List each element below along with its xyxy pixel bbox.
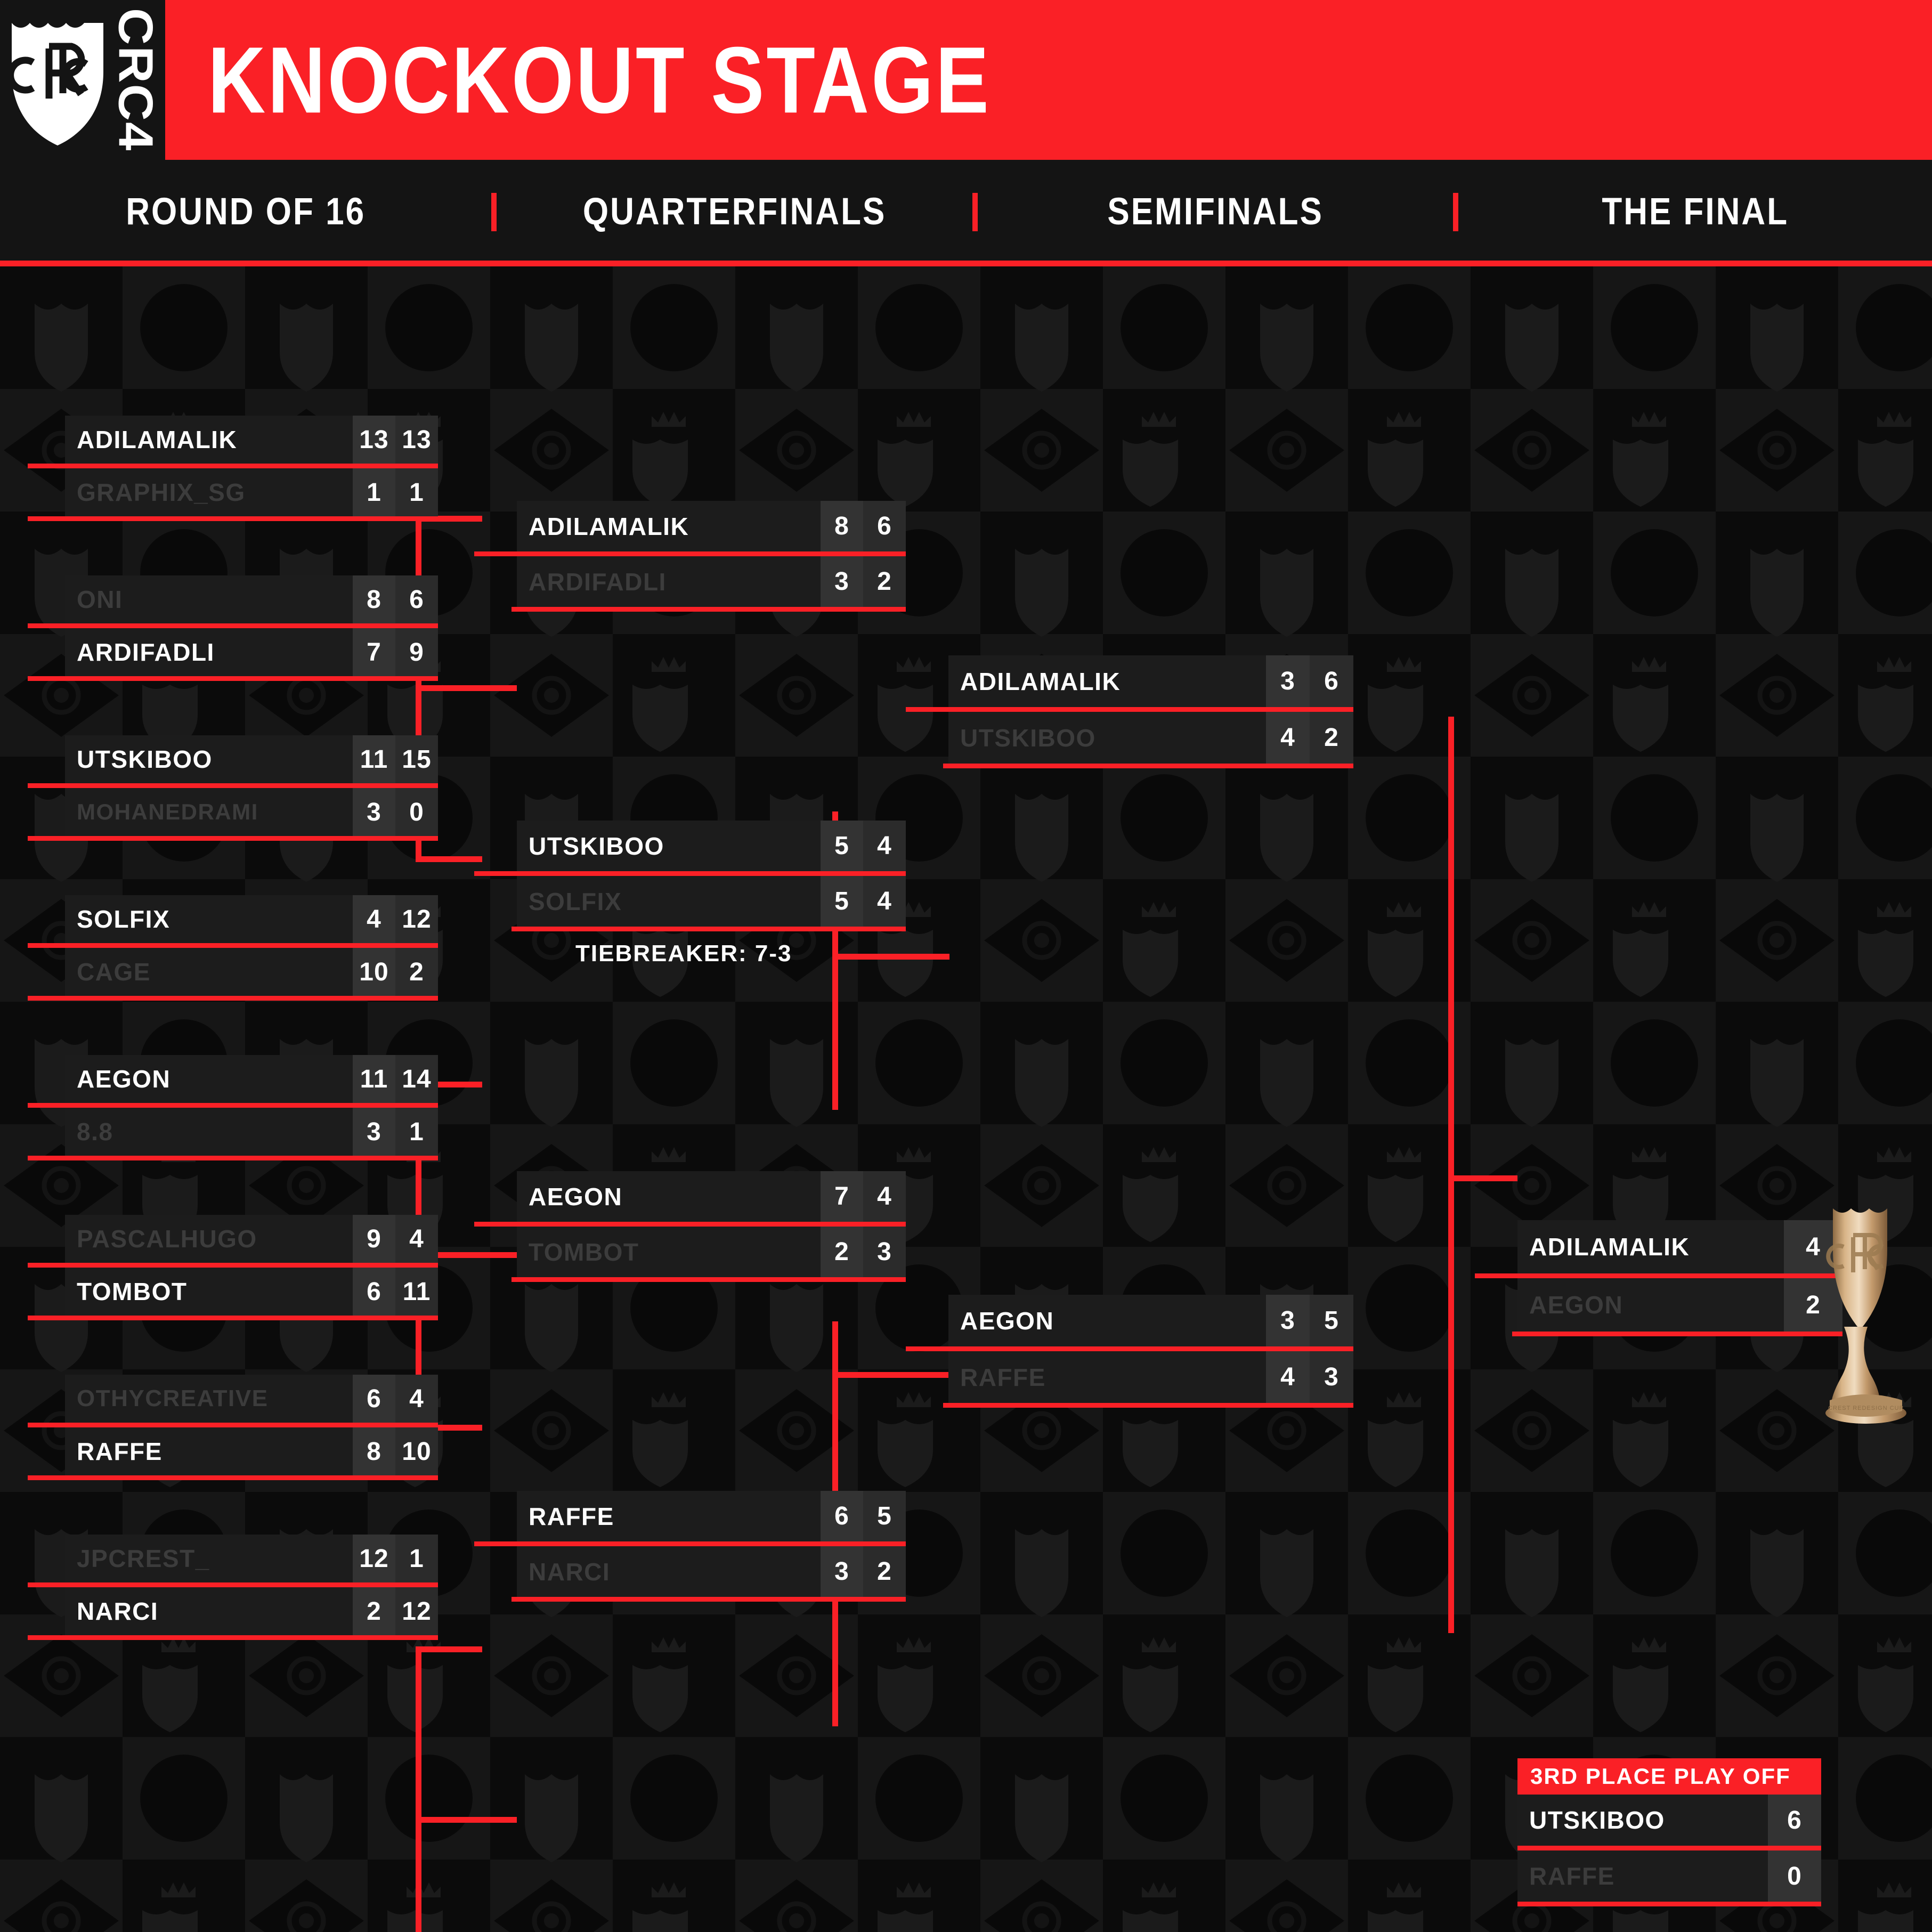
connector bbox=[416, 856, 482, 862]
row-divider bbox=[28, 1475, 438, 1480]
knockout-stage-bracket-page: CRC4 KNOCKOUT STAGE ROUND OF 16 QUARTERF… bbox=[0, 0, 1932, 1932]
score-leg1: 4 bbox=[353, 895, 395, 943]
team-name: AEGON bbox=[517, 1171, 821, 1222]
match-row[interactable]: JPCREST_ 12 1 bbox=[65, 1535, 438, 1582]
score-leg1: 3 bbox=[821, 556, 863, 607]
row-divider bbox=[28, 1156, 438, 1160]
score-leg1: 5 bbox=[821, 821, 863, 871]
team-name: AEGON bbox=[1517, 1278, 1784, 1332]
score-leg2: 12 bbox=[395, 1587, 438, 1635]
match-r16-7[interactable]: OTHYCREATIVE 6 4 RAFFE 8 10 bbox=[65, 1375, 438, 1475]
team-name: ADILAMALIK bbox=[65, 416, 353, 464]
score-third: 6 bbox=[1768, 1795, 1821, 1846]
team-name: JPCREST_ bbox=[65, 1535, 353, 1582]
team-name: UTSKIBOO bbox=[517, 821, 821, 871]
team-name: TOMBOT bbox=[517, 1227, 821, 1277]
team-name: RAFFE bbox=[65, 1427, 353, 1475]
score-leg2: 12 bbox=[395, 895, 438, 943]
score-leg1: 8 bbox=[353, 1427, 395, 1475]
match-row[interactable]: ADILAMALIK 3 6 bbox=[948, 655, 1353, 707]
row-divider bbox=[1475, 1273, 1842, 1278]
score-leg1: 11 bbox=[353, 1055, 395, 1103]
row-divider bbox=[474, 551, 906, 556]
match-row[interactable]: RAFFE 6 5 bbox=[517, 1491, 906, 1541]
score-leg2: 14 bbox=[395, 1055, 438, 1103]
score-leg2: 4 bbox=[395, 1375, 438, 1423]
row-divider bbox=[28, 1103, 438, 1108]
score-leg2: 4 bbox=[395, 1215, 438, 1263]
team-name: UTSKIBOO bbox=[65, 735, 353, 783]
team-name: NARCI bbox=[65, 1587, 353, 1635]
connector bbox=[1448, 717, 1454, 1633]
row-divider bbox=[474, 1222, 906, 1227]
score-leg2: 2 bbox=[863, 556, 906, 607]
score-leg1: 6 bbox=[353, 1268, 395, 1316]
score-leg2: 4 bbox=[863, 876, 906, 927]
row-divider bbox=[474, 871, 906, 876]
tab-separator bbox=[972, 193, 978, 231]
team-name: RAFFE bbox=[948, 1351, 1266, 1403]
score-leg1: 8 bbox=[353, 575, 395, 623]
tab-semifinals[interactable]: SEMIFINALS bbox=[978, 152, 1454, 271]
match-row[interactable]: GRAPHIX_SG 1 1 bbox=[65, 468, 438, 516]
match-final[interactable]: ADILAMALIK 4 AEGON 2 bbox=[1517, 1220, 1842, 1332]
connector bbox=[416, 685, 517, 691]
row-divider bbox=[1517, 1846, 1821, 1850]
connector bbox=[416, 1646, 421, 1932]
match-row[interactable]: ARDIFADLI 7 9 bbox=[65, 628, 438, 676]
row-divider bbox=[28, 1635, 438, 1640]
team-name: ARDIFADLI bbox=[517, 556, 821, 607]
team-name: CAGE bbox=[65, 948, 353, 996]
team-name: OTHYCREATIVE bbox=[65, 1375, 353, 1423]
match-row[interactable]: AEGON 3 5 bbox=[948, 1295, 1353, 1346]
match-row[interactable]: TOMBOT 2 3 bbox=[517, 1227, 906, 1277]
team-name: GRAPHIX_SG bbox=[65, 468, 353, 516]
score-leg2: 5 bbox=[863, 1491, 906, 1541]
match-row[interactable]: UTSKIBOO 4 2 bbox=[948, 712, 1353, 764]
connector bbox=[416, 1646, 482, 1652]
match-r16-5[interactable]: AEGON 11 14 8.8 3 1 bbox=[65, 1055, 438, 1156]
match-sf-1[interactable]: ADILAMALIK 3 6 UTSKIBOO 4 2 bbox=[948, 655, 1353, 764]
match-row[interactable]: 8.8 3 1 bbox=[65, 1108, 438, 1156]
match-r16-3[interactable]: UTSKIBOO 11 15 MOHANEDRAMI 3 0 bbox=[65, 735, 438, 836]
page-header: CRC4 KNOCKOUT STAGE bbox=[0, 0, 1932, 160]
team-name: ADILAMALIK bbox=[948, 655, 1266, 707]
score-leg2: 6 bbox=[1310, 655, 1353, 707]
score-leg2: 0 bbox=[395, 788, 438, 836]
score-leg2: 3 bbox=[1310, 1351, 1353, 1403]
team-name: ARDIFADLI bbox=[65, 628, 353, 676]
score-leg1: 12 bbox=[353, 1535, 395, 1582]
crc-shield-crest-icon bbox=[10, 13, 105, 147]
score-leg2: 4 bbox=[863, 821, 906, 871]
score-leg2: 3 bbox=[863, 1227, 906, 1277]
row-divider bbox=[28, 1316, 438, 1320]
match-qf-4[interactable]: RAFFE 6 5 NARCI 3 2 bbox=[517, 1491, 906, 1597]
match-row[interactable]: RAFFE 0 bbox=[1517, 1850, 1821, 1902]
match-qf-1[interactable]: ADILAMALIK 8 6 ARDIFADLI 3 2 bbox=[517, 501, 906, 607]
row-divider bbox=[512, 607, 906, 612]
row-divider bbox=[906, 1346, 1353, 1351]
third-place-header: 3RD PLACE PLAY OFF bbox=[1517, 1758, 1821, 1795]
match-row[interactable]: UTSKIBOO 6 bbox=[1517, 1795, 1821, 1846]
tab-round-of-16[interactable]: ROUND OF 16 bbox=[0, 152, 491, 271]
row-divider bbox=[28, 516, 438, 521]
team-name: ADILAMALIK bbox=[1517, 1220, 1784, 1273]
score-leg1: 3 bbox=[821, 1546, 863, 1597]
score-leg2: 2 bbox=[1310, 712, 1353, 764]
match-row[interactable]: TOMBOT 6 11 bbox=[65, 1268, 438, 1316]
score-leg2: 2 bbox=[395, 948, 438, 996]
row-divider bbox=[28, 676, 438, 681]
row-divider bbox=[28, 996, 438, 1001]
round-tabs: ROUND OF 16 QUARTERFINALS SEMIFINALS THE… bbox=[0, 160, 1932, 264]
match-row[interactable]: UTSKIBOO 5 4 bbox=[517, 821, 906, 871]
score-leg1: 4 bbox=[1266, 1351, 1310, 1403]
match-qf-2[interactable]: UTSKIBOO 5 4 SOLFIX 5 4 bbox=[517, 821, 906, 927]
team-name: MOHANEDRAMI bbox=[65, 788, 353, 836]
row-divider bbox=[28, 464, 438, 468]
team-name: NARCI bbox=[517, 1546, 821, 1597]
match-row[interactable]: NARCI 3 2 bbox=[517, 1546, 906, 1597]
match-row[interactable]: NARCI 2 12 bbox=[65, 1587, 438, 1635]
match-r16-1[interactable]: ADILAMALIK 13 13 GRAPHIX_SG 1 1 bbox=[65, 416, 438, 516]
team-name: SOLFIX bbox=[517, 876, 821, 927]
score-leg1: 6 bbox=[821, 1491, 863, 1541]
match-row[interactable]: ADILAMALIK 8 6 bbox=[517, 501, 906, 551]
match-row[interactable]: UTSKIBOO 11 15 bbox=[65, 735, 438, 783]
connector bbox=[1448, 1175, 1517, 1181]
row-divider bbox=[28, 1263, 438, 1268]
score-leg2: 2 bbox=[863, 1546, 906, 1597]
bracket-canvas: ADILAMALIK 13 13 GRAPHIX_SG 1 1 ONI 8 6 … bbox=[0, 266, 1932, 1932]
brand-logo: CRC4 bbox=[0, 0, 165, 160]
row-divider bbox=[474, 1541, 906, 1546]
team-name: ONI bbox=[65, 575, 353, 623]
row-divider bbox=[906, 707, 1353, 712]
score-leg2: 15 bbox=[395, 735, 438, 783]
score-leg1: 4 bbox=[1266, 712, 1310, 764]
score-leg1: 3 bbox=[1266, 655, 1310, 707]
row-divider bbox=[512, 927, 906, 931]
match-third-place[interactable]: UTSKIBOO 6 RAFFE 0 bbox=[1517, 1795, 1821, 1902]
row-divider bbox=[1512, 1332, 1842, 1336]
score-leg1: 2 bbox=[353, 1587, 395, 1635]
tabs-underline bbox=[0, 261, 1932, 266]
match-row[interactable]: MOHANEDRAMI 3 0 bbox=[65, 788, 438, 836]
tab-separator bbox=[491, 193, 497, 231]
score-leg2: 6 bbox=[395, 575, 438, 623]
team-name: RAFFE bbox=[517, 1491, 821, 1541]
match-r16-8[interactable]: JPCREST_ 12 1 NARCI 2 12 bbox=[65, 1535, 438, 1635]
match-qf-3[interactable]: AEGON 7 4 TOMBOT 2 3 bbox=[517, 1171, 906, 1277]
match-row[interactable]: OTHYCREATIVE 6 4 bbox=[65, 1375, 438, 1423]
score-leg1: 10 bbox=[353, 948, 395, 996]
score-leg1: 2 bbox=[821, 1227, 863, 1277]
score-leg1: 1 bbox=[353, 468, 395, 516]
score-leg1: 8 bbox=[821, 501, 863, 551]
score-leg1: 6 bbox=[353, 1375, 395, 1423]
score-leg1: 9 bbox=[353, 1215, 395, 1263]
trophy-base-text: CREST REDESIGN CUP bbox=[1828, 1405, 1904, 1411]
connector bbox=[416, 1817, 517, 1823]
tab-the-final[interactable]: THE FINAL bbox=[1458, 152, 1932, 271]
score-leg2: 6 bbox=[863, 501, 906, 551]
score-leg1: 3 bbox=[353, 788, 395, 836]
row-divider bbox=[28, 836, 438, 841]
score-leg1: 13 bbox=[353, 416, 395, 464]
row-divider bbox=[512, 1597, 906, 1602]
row-divider bbox=[943, 764, 1353, 768]
title-banner: KNOCKOUT STAGE bbox=[165, 0, 1932, 160]
match-r16-6[interactable]: PASCALHUGO 9 4 TOMBOT 6 11 bbox=[65, 1215, 438, 1316]
score-leg1: 3 bbox=[1266, 1295, 1310, 1346]
team-name: 8.8 bbox=[65, 1108, 353, 1156]
row-divider bbox=[28, 943, 438, 948]
match-row[interactable]: SOLFIX 4 12 bbox=[65, 895, 438, 943]
row-divider bbox=[943, 1403, 1353, 1408]
tab-separator bbox=[1453, 193, 1458, 231]
match-row[interactable]: AEGON 7 4 bbox=[517, 1171, 906, 1222]
match-row[interactable]: CAGE 10 2 bbox=[65, 948, 438, 996]
row-divider bbox=[28, 783, 438, 788]
row-divider bbox=[28, 1423, 438, 1427]
connector bbox=[832, 1372, 949, 1378]
row-divider bbox=[1517, 1902, 1821, 1906]
team-name: TOMBOT bbox=[65, 1268, 353, 1316]
crc-trophy-icon: CREST REDESIGN CUP bbox=[1802, 1204, 1930, 1428]
row-divider bbox=[512, 1277, 906, 1282]
match-row[interactable]: SOLFIX 5 4 bbox=[517, 876, 906, 927]
row-divider bbox=[28, 623, 438, 628]
match-row[interactable]: AEGON 2 bbox=[1517, 1278, 1842, 1332]
match-row[interactable]: ARDIFADLI 3 2 bbox=[517, 556, 906, 607]
match-r16-4[interactable]: SOLFIX 4 12 CAGE 10 2 bbox=[65, 895, 438, 996]
team-name: UTSKIBOO bbox=[1517, 1795, 1768, 1846]
score-leg1: 5 bbox=[821, 876, 863, 927]
match-sf-2[interactable]: AEGON 3 5 RAFFE 4 3 bbox=[948, 1295, 1353, 1403]
score-third: 0 bbox=[1768, 1850, 1821, 1902]
score-leg2: 1 bbox=[395, 1108, 438, 1156]
row-divider bbox=[28, 1582, 438, 1587]
score-leg2: 5 bbox=[1310, 1295, 1353, 1346]
connector bbox=[832, 954, 949, 960]
score-leg2: 13 bbox=[395, 416, 438, 464]
match-row[interactable]: ADILAMALIK 13 13 bbox=[65, 416, 438, 464]
brand-wordmark: CRC4 bbox=[111, 8, 159, 151]
match-row[interactable]: ADILAMALIK 4 bbox=[1517, 1220, 1842, 1273]
match-row[interactable]: RAFFE 4 3 bbox=[948, 1351, 1353, 1403]
score-leg1: 7 bbox=[821, 1171, 863, 1222]
page-title: KNOCKOUT STAGE bbox=[208, 26, 991, 134]
score-leg2: 9 bbox=[395, 628, 438, 676]
score-leg1: 11 bbox=[353, 735, 395, 783]
team-name: RAFFE bbox=[1517, 1850, 1768, 1902]
tab-quarterfinals[interactable]: QUARTERFINALS bbox=[497, 152, 972, 271]
team-name: SOLFIX bbox=[65, 895, 353, 943]
score-leg2: 10 bbox=[395, 1427, 438, 1475]
team-name: UTSKIBOO bbox=[948, 712, 1266, 764]
score-leg1: 7 bbox=[353, 628, 395, 676]
score-leg2: 1 bbox=[395, 1535, 438, 1582]
match-row[interactable]: PASCALHUGO 9 4 bbox=[65, 1215, 438, 1263]
team-name: AEGON bbox=[65, 1055, 353, 1103]
team-name: AEGON bbox=[948, 1295, 1266, 1346]
tiebreaker-note: TIEBREAKER: 7-3 bbox=[575, 940, 792, 967]
match-r16-2[interactable]: ONI 8 6 ARDIFADLI 7 9 bbox=[65, 575, 438, 676]
score-leg2: 11 bbox=[395, 1268, 438, 1316]
match-row[interactable]: ONI 8 6 bbox=[65, 575, 438, 623]
score-leg2: 1 bbox=[395, 468, 438, 516]
score-leg1: 3 bbox=[353, 1108, 395, 1156]
score-leg2: 4 bbox=[863, 1171, 906, 1222]
match-row[interactable]: AEGON 11 14 bbox=[65, 1055, 438, 1103]
match-row[interactable]: RAFFE 8 10 bbox=[65, 1427, 438, 1475]
team-name: PASCALHUGO bbox=[65, 1215, 353, 1263]
team-name: ADILAMALIK bbox=[517, 501, 821, 551]
